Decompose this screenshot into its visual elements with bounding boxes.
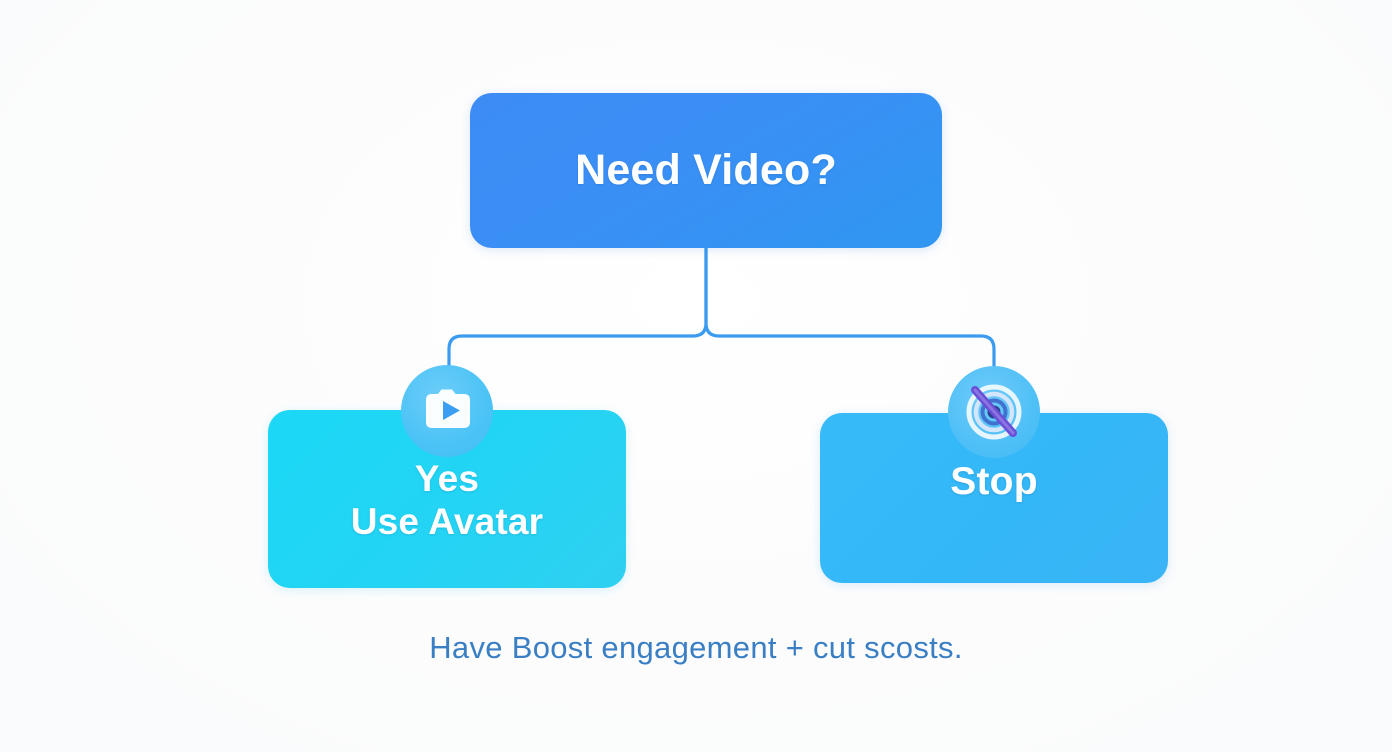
node-need-video-label: Need Video? xyxy=(575,146,837,196)
video-camera-play-icon xyxy=(401,365,493,457)
diagram-canvas: Need Video? Yes Use Avatar Stop Have Boo… xyxy=(0,0,1392,752)
diagram-caption: Have Boost engagement + cut scosts. xyxy=(0,630,1392,666)
target-slash-icon-glyph xyxy=(963,381,1025,443)
node-yes-use-avatar-label: Yes Use Avatar xyxy=(351,458,544,544)
connector-root-to-yes xyxy=(449,248,706,370)
connector-root-to-stop xyxy=(706,248,994,371)
node-need-video[interactable]: Need Video? xyxy=(470,93,942,248)
target-slash-icon xyxy=(948,366,1040,458)
node-stop-label: Stop xyxy=(950,459,1037,504)
video-camera-play-icon-glyph xyxy=(418,388,476,434)
